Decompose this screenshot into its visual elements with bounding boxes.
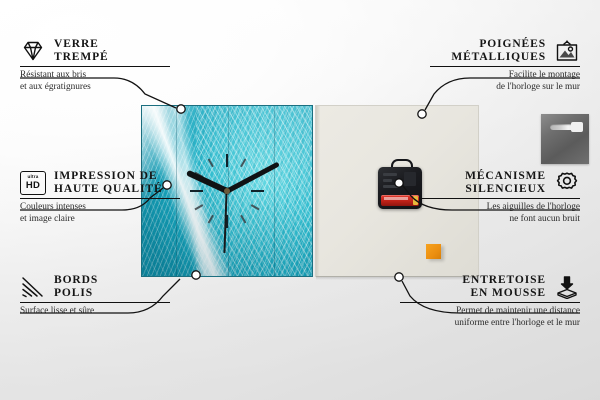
callout-rule [20,198,180,199]
foam-spacer-part [426,244,441,259]
callout-rule [420,198,580,199]
callout-rule [20,66,170,67]
callout-header: ENTRETOISE EN MOUSSE [400,274,580,300]
callout-subtitle-line1: Surface lisse et sûre [20,306,170,318]
callout-bords-polis[interactable]: BORDS POLIS Surface lisse et sûre [20,274,170,318]
diamond-icon [20,39,46,63]
callout-header: BORDS POLIS [20,274,170,300]
callout-impression-haute-qualite[interactable]: ultra HD IMPRESSION DE HAUTE QUALITÉ Cou… [20,170,180,225]
callout-verre-trempe[interactable]: VERRE TREMPÉ Résistant aux bris et aux é… [20,38,170,93]
callout-header: MÉCANISME SILENCIEUX [420,170,580,196]
gear-icon [554,171,580,195]
callout-poignees-metalliques[interactable]: POIGNÉES MÉTALLIQUES Facilite le montage… [430,38,580,93]
callout-title: POIGNÉES MÉTALLIQUES [451,38,546,64]
mechanism-detail [404,172,416,186]
clock-mechanism-part [378,165,422,209]
polished-edges-icon [20,275,46,299]
panel-edge [316,106,320,276]
hanger-slot-highlight [571,122,583,132]
callout-mecanisme-silencieux[interactable]: MÉCANISME SILENCIEUX Les aiguilles de l'… [420,170,580,225]
callout-subtitle-line1: Les aiguilles de l'horloge [420,202,580,214]
callout-rule [400,302,580,303]
callout-subtitle-line2: ne font aucun bruit [420,214,580,226]
callout-rule [20,302,170,303]
mechanism-body [378,167,422,209]
callout-header: POIGNÉES MÉTALLIQUES [430,38,580,64]
callout-title: IMPRESSION DE HAUTE QUALITÉ [54,170,163,196]
battery-terminal [413,196,418,205]
callout-subtitle-line2: uniforme entre l'horloge et le mur [400,318,580,330]
callout-header: VERRE TREMPÉ [20,38,170,64]
mechanism-detail [383,173,397,176]
mechanism-detail [383,185,399,188]
callout-entretoise-en-mousse[interactable]: ENTRETOISE EN MOUSSE Permet de maintenir… [400,274,580,329]
callout-title: MÉCANISME SILENCIEUX [465,170,546,196]
callout-subtitle-line1: Couleurs intenses [20,202,180,214]
callout-header: ultra HD IMPRESSION DE HAUTE QUALITÉ [20,170,180,196]
callout-subtitle-line2: et image claire [20,214,180,226]
callout-subtitle-line1: Permet de maintenir une distance [400,306,580,318]
mechanism-detail [383,179,392,182]
battery [381,195,419,206]
clock-center-pin [224,188,230,194]
infographic-canvas: VERRE TREMPÉ Résistant aux bris et aux é… [0,0,600,400]
callout-title: ENTRETOISE EN MOUSSE [462,274,546,300]
callout-subtitle-line2: et aux égratignures [20,82,170,94]
callout-subtitle-line1: Facilite le montage [430,70,580,82]
arrow-onto-pad-icon [554,275,580,299]
callout-subtitle-line1: Résistant aux bris [20,70,170,82]
hanging-frame-icon [554,39,580,63]
callout-subtitle-line2: de l'horloge sur le mur [430,82,580,94]
metal-hanger-part [541,114,589,164]
callout-title: BORDS POLIS [54,274,98,300]
ultra-hd-icon: ultra HD [20,171,46,195]
callout-rule [430,66,580,67]
callout-title: VERRE TREMPÉ [54,38,109,64]
battery-label [384,197,408,200]
